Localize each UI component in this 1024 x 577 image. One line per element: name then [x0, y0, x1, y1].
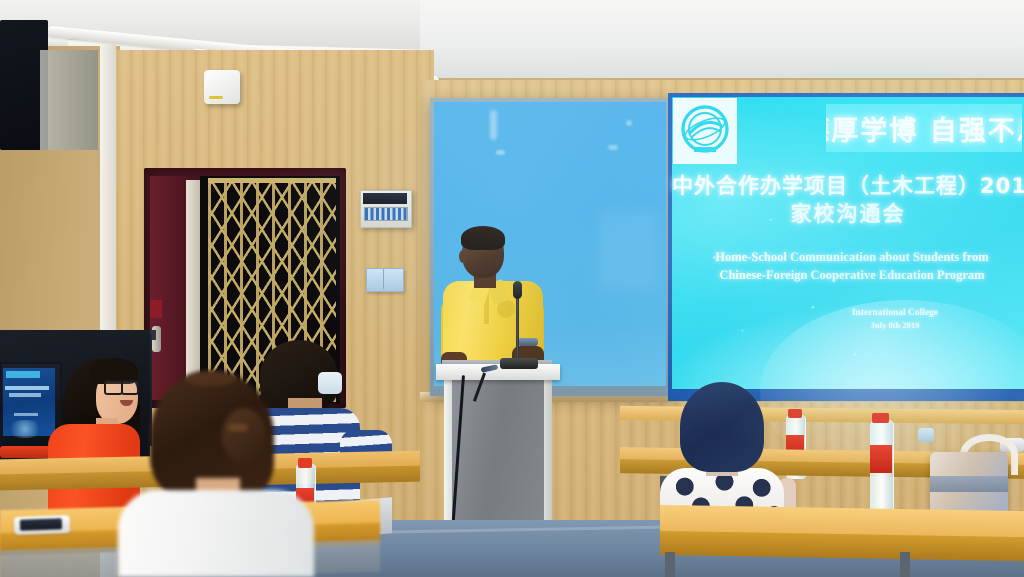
- bottle-cap: [788, 409, 802, 418]
- hair-tie: [228, 424, 248, 431]
- podium-top: [436, 364, 560, 380]
- door-edge: [186, 180, 200, 400]
- slide-banner: 德厚学博 自强不息: [826, 104, 1022, 152]
- presenter-hair: [461, 226, 505, 250]
- bottle-label: [870, 445, 892, 473]
- light-switch-divider: [383, 269, 384, 289]
- hair-part: [186, 372, 236, 386]
- smartphone-screen[interactable]: [20, 518, 62, 530]
- handbag-flap: [930, 476, 1008, 492]
- classroom-photo: 德厚学博 自强不息 中外合作办学项目（土木工程）2016级 家校沟通会 Home…: [0, 0, 1024, 577]
- cabinet-side: [40, 50, 98, 150]
- door-lock[interactable]: [150, 300, 162, 318]
- eyeglasses-icon: [121, 380, 139, 395]
- open-door-panel[interactable]: [150, 176, 188, 400]
- slide-chinese-title-line2: 家校沟通会: [672, 198, 1024, 228]
- monitor-slide-text: [14, 413, 38, 416]
- access-point-led: [209, 96, 223, 99]
- woman-polka-dot-hair: [680, 382, 764, 472]
- bottle-cap: [298, 458, 312, 468]
- slide-date: July 8th 2019: [800, 320, 990, 330]
- monitor-slide-text: [5, 386, 49, 390]
- light-switch[interactable]: [366, 268, 404, 292]
- screen-glare: [490, 110, 497, 140]
- breaker-panel-cover: [363, 193, 407, 204]
- face-mask: [318, 372, 342, 394]
- slide-english-title-line1: Home-School Communication about Students…: [672, 250, 1024, 265]
- screen-glare: [496, 150, 505, 155]
- monitor-globe-graphic: [6, 420, 44, 438]
- desk-leg: [900, 552, 910, 577]
- screen-reflection: [598, 210, 658, 290]
- woman-white-tshirt: [118, 490, 314, 577]
- monitor-slide-banner: [6, 371, 40, 378]
- screen-glare: [626, 120, 632, 126]
- presenter-ear: [459, 250, 467, 263]
- desk-leg: [665, 552, 675, 577]
- hair-bun: [222, 408, 266, 464]
- wristwatch: [518, 338, 538, 346]
- slide-banner-text: 德厚学博 自强不息: [826, 109, 1022, 148]
- gate-rail: [208, 178, 336, 183]
- university-emblem-icon: [673, 98, 737, 164]
- monitor-slide-text: [9, 393, 41, 397]
- microphone-base: [500, 358, 538, 369]
- microphone-icon[interactable]: [513, 281, 522, 299]
- slide-organization: International College: [800, 308, 990, 318]
- slide-chinese-title-line1: 中外合作办学项目（土木工程）2016级: [672, 170, 1024, 200]
- breaker-switch-row[interactable]: [364, 207, 408, 221]
- slide-english-title-line2: Chinese-Foreign Cooperative Education Pr…: [672, 268, 1024, 283]
- screen-glare: [608, 145, 618, 150]
- bottle-cap: [872, 413, 889, 423]
- ceiling-right: [420, 0, 1024, 78]
